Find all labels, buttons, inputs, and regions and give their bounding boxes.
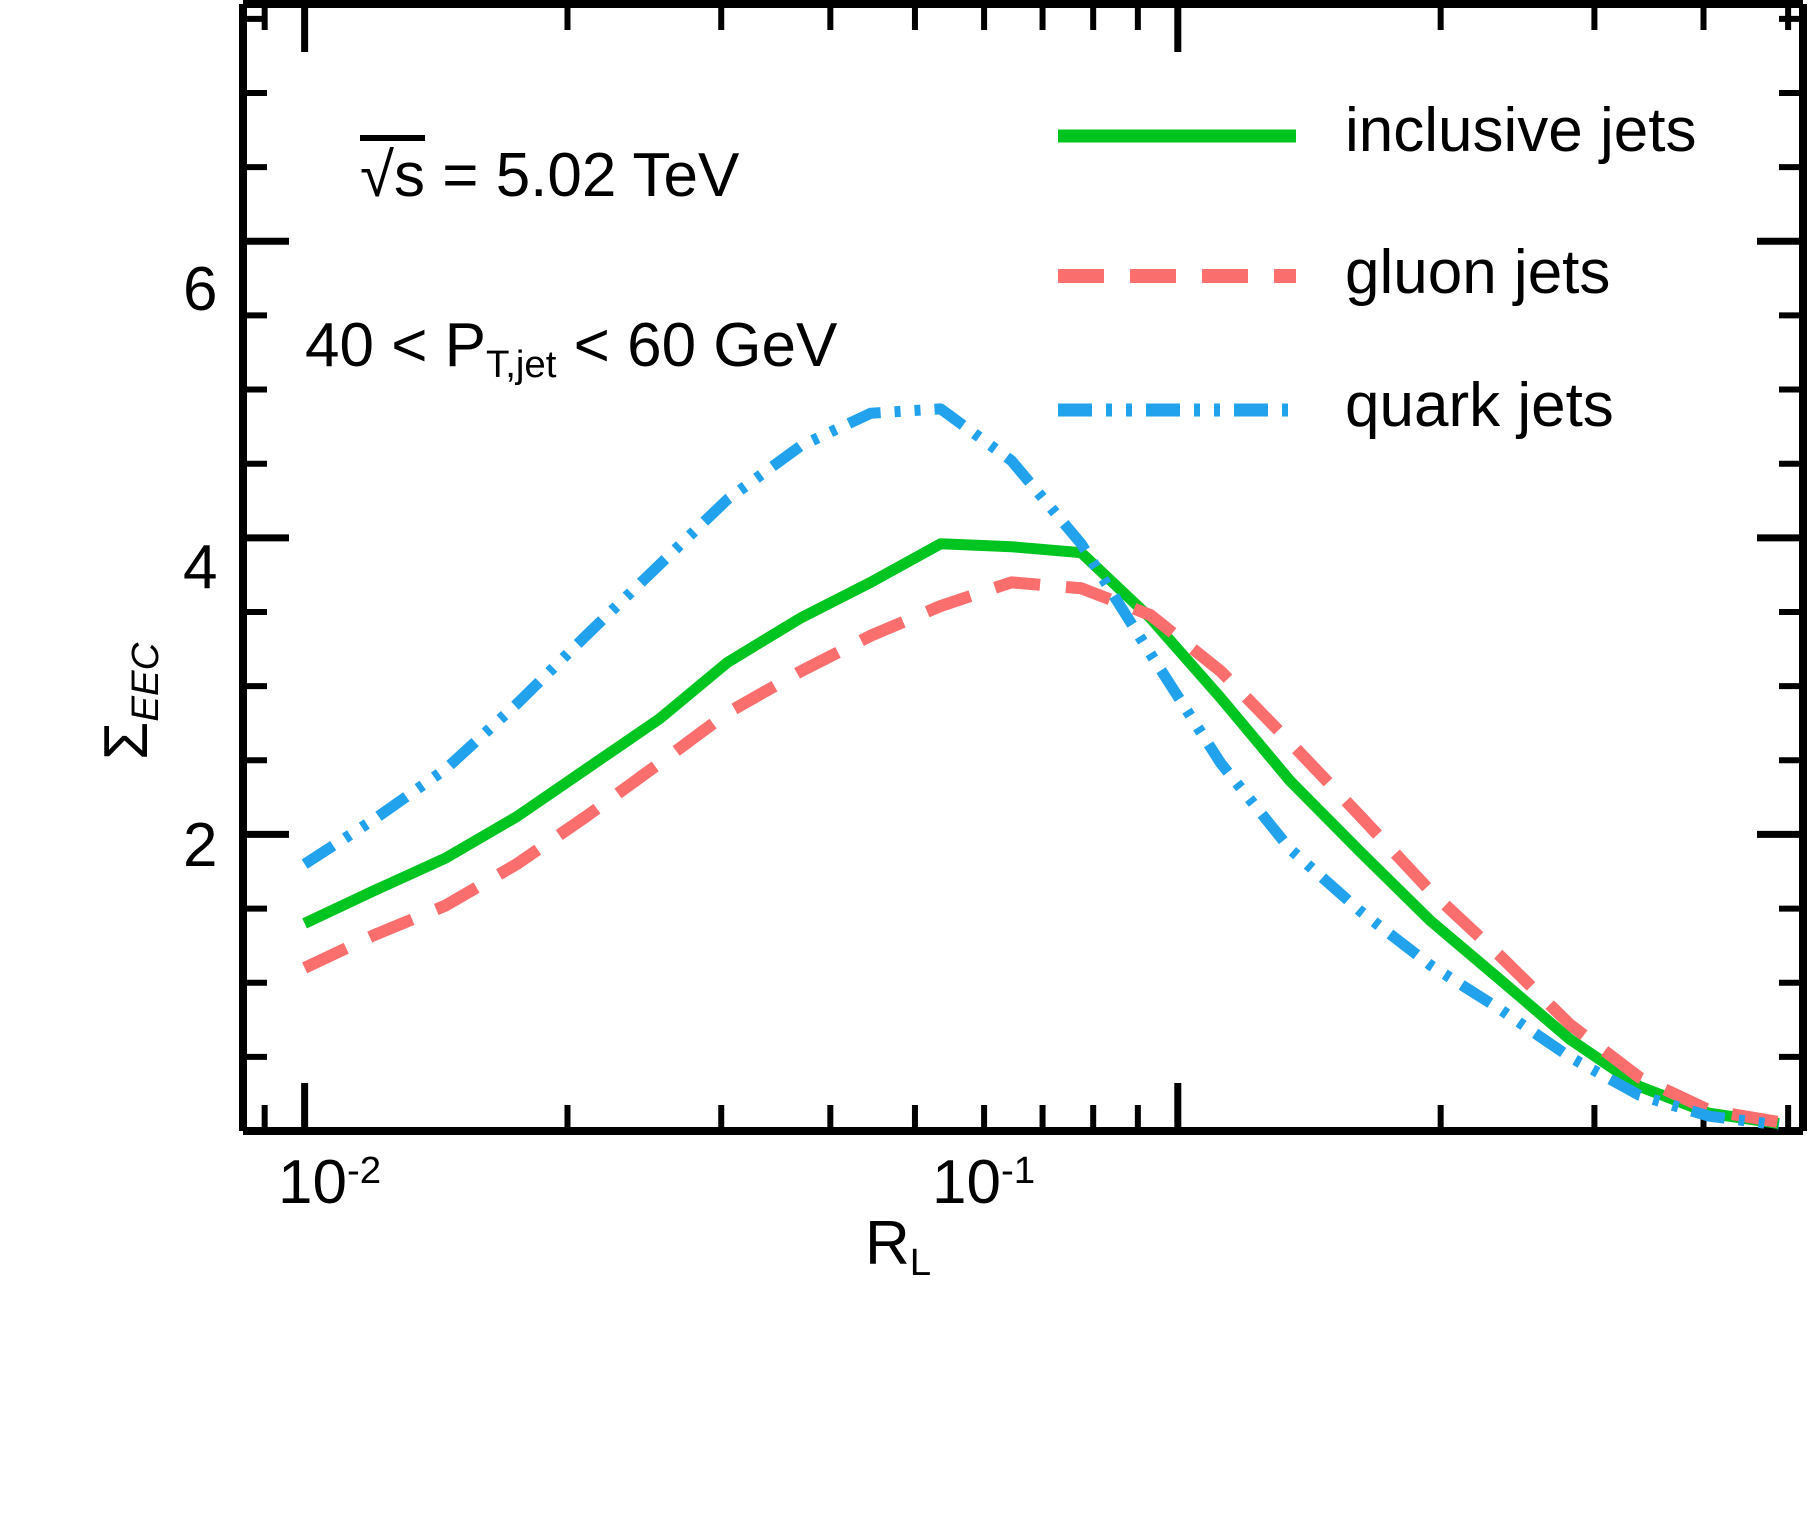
- x-tick-exponent-2: -1: [1001, 1149, 1035, 1192]
- figure-root: ΣEEC RL 10-2 10-1 2 4 6 √s = 5.02 TeV 40…: [0, 0, 1809, 1532]
- annotation-pt-subscript: T,jet: [486, 343, 556, 386]
- x-tick-label-1e-1: 10-1: [932, 1152, 1035, 1214]
- legend-label-quark-jets[interactable]: quark jets: [1345, 375, 1614, 437]
- y-tick-label-4: 4: [183, 537, 217, 599]
- canvas-background: [0, 0, 1809, 1532]
- x-axis-title: RL: [865, 1213, 931, 1282]
- x-tick-exponent-1: -2: [347, 1149, 381, 1192]
- x-tick-mantissa-1: 10: [278, 1148, 347, 1217]
- y-tick-label-6: 6: [183, 259, 217, 321]
- annotation-pt-suffix: < 60 GeV: [556, 311, 837, 380]
- annotation-energy-value: = 5.02 TeV: [425, 141, 739, 210]
- y-axis-title-symbol: Σ: [92, 722, 161, 760]
- x-axis-title-symbol: R: [865, 1209, 910, 1278]
- x-tick-label-1e-2: 10-2: [278, 1152, 381, 1214]
- legend-label-gluon-jets[interactable]: gluon jets: [1345, 242, 1610, 304]
- x-tick-mantissa-2: 10: [932, 1148, 1001, 1217]
- eec-chart-canvas: [0, 0, 1809, 1532]
- y-axis-title-subscript: EEC: [124, 643, 167, 722]
- y-tick-label-2: 2: [183, 815, 217, 877]
- annotation-sqrt-s: √s: [360, 141, 425, 210]
- annotation-pt-prefix: 40 < P: [305, 311, 486, 380]
- y-axis-title: ΣEEC: [96, 643, 165, 760]
- annotation-center-of-mass-energy: √s = 5.02 TeV: [360, 145, 739, 207]
- legend-label-inclusive-jets[interactable]: inclusive jets: [1345, 100, 1696, 162]
- x-axis-title-subscript: L: [910, 1241, 931, 1284]
- annotation-pt-range: 40 < PT,jet < 60 GeV: [305, 315, 837, 384]
